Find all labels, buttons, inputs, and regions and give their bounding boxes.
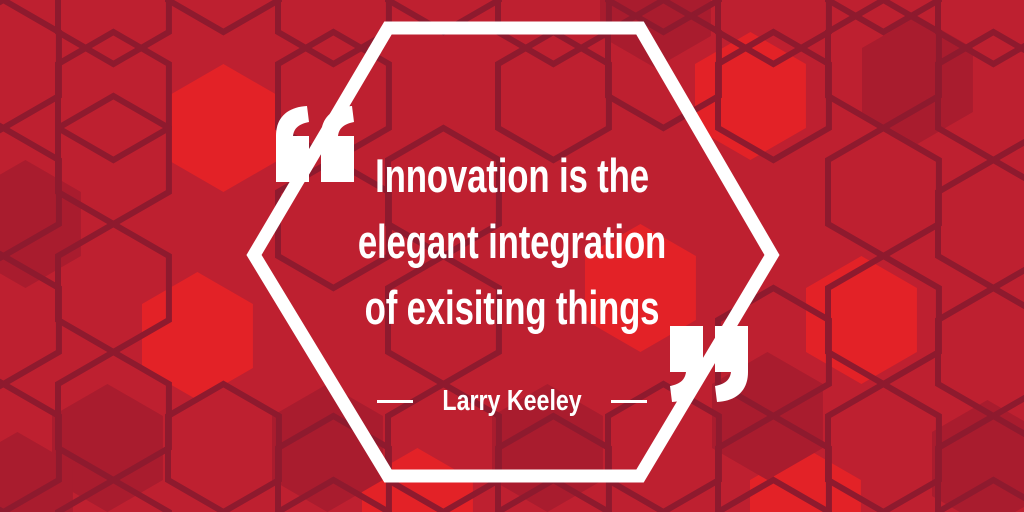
attribution: Larry Keeley [0, 385, 1024, 417]
attribution-rule-left [377, 400, 413, 403]
quote-content: Innovation is the elegant integration of… [0, 0, 1024, 512]
quote-line: elegant integration [133, 218, 891, 265]
quote-card: Innovation is the elegant integration of… [0, 0, 1024, 512]
attribution-rule-right [611, 400, 647, 403]
quote-line: Innovation is the [133, 152, 891, 199]
author-name: Larry Keeley [442, 387, 581, 416]
quote-line: of exisiting things [133, 284, 891, 331]
